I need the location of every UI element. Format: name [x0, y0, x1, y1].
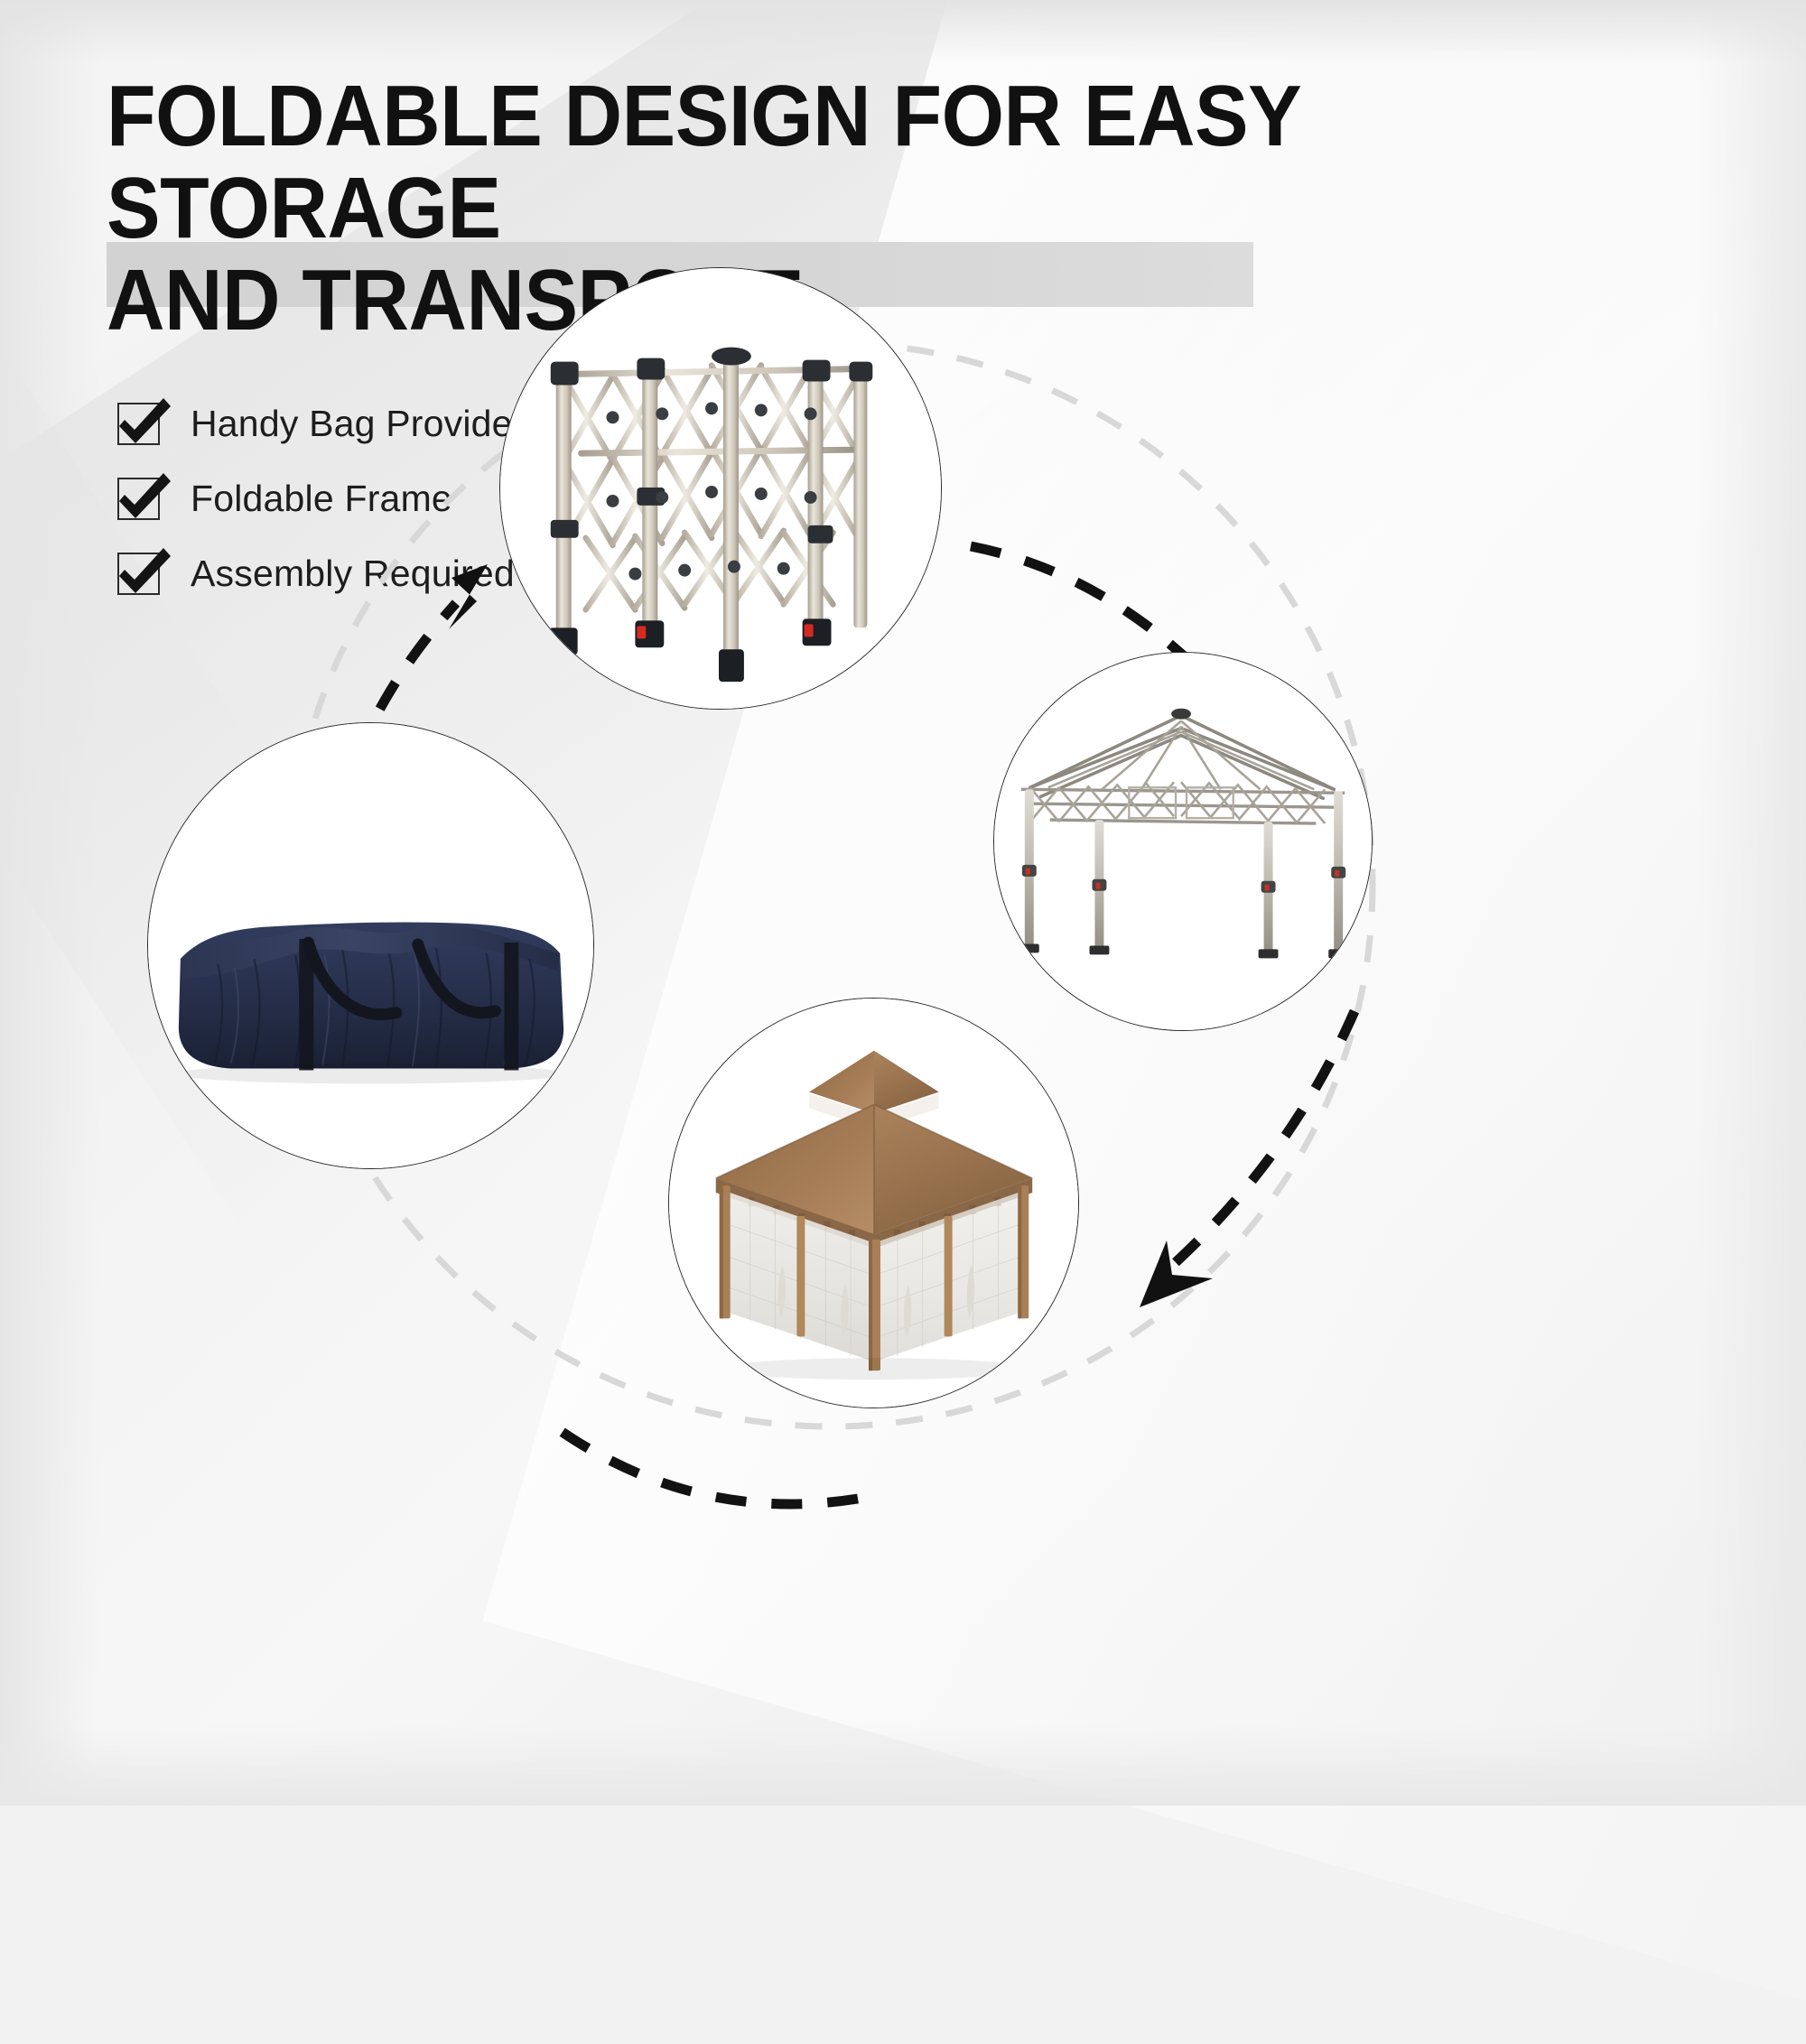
circle-assembled-gazebo — [668, 998, 1079, 1408]
background-edge-bottom — [0, 1724, 1806, 1806]
background-edge-top — [0, 0, 1806, 63]
circle-folded-frame — [499, 267, 942, 710]
list-item-label: Foldable Frame — [191, 478, 452, 520]
background-edge-right — [1698, 0, 1806, 1806]
feature-checklist: Handy Bag Provided Foldable Frame Assemb… — [117, 395, 534, 619]
checkbox-checked-icon — [117, 553, 160, 595]
background-edge-left — [0, 0, 99, 1806]
circle-canopy-frame — [993, 652, 1373, 1031]
list-item: Handy Bag Provided — [117, 395, 534, 452]
list-item-label: Assembly Required — [191, 553, 515, 595]
checkbox-checked-icon — [117, 403, 160, 445]
list-item-label: Handy Bag Provided — [191, 403, 534, 445]
checkbox-checked-icon — [117, 478, 160, 520]
folded-frame-photo — [500, 268, 941, 709]
canopy-frame-photo — [994, 653, 1372, 1030]
list-item: Assembly Required — [117, 544, 534, 602]
circle-carry-bag — [147, 722, 594, 1169]
gazebo-photo — [669, 999, 1078, 1408]
carry-bag-photo — [148, 723, 593, 1168]
infographic-canvas: FOLDABLE DESIGN FOR EASY STORAGE AND TRA… — [0, 0, 1806, 1806]
list-item: Foldable Frame — [117, 469, 534, 527]
